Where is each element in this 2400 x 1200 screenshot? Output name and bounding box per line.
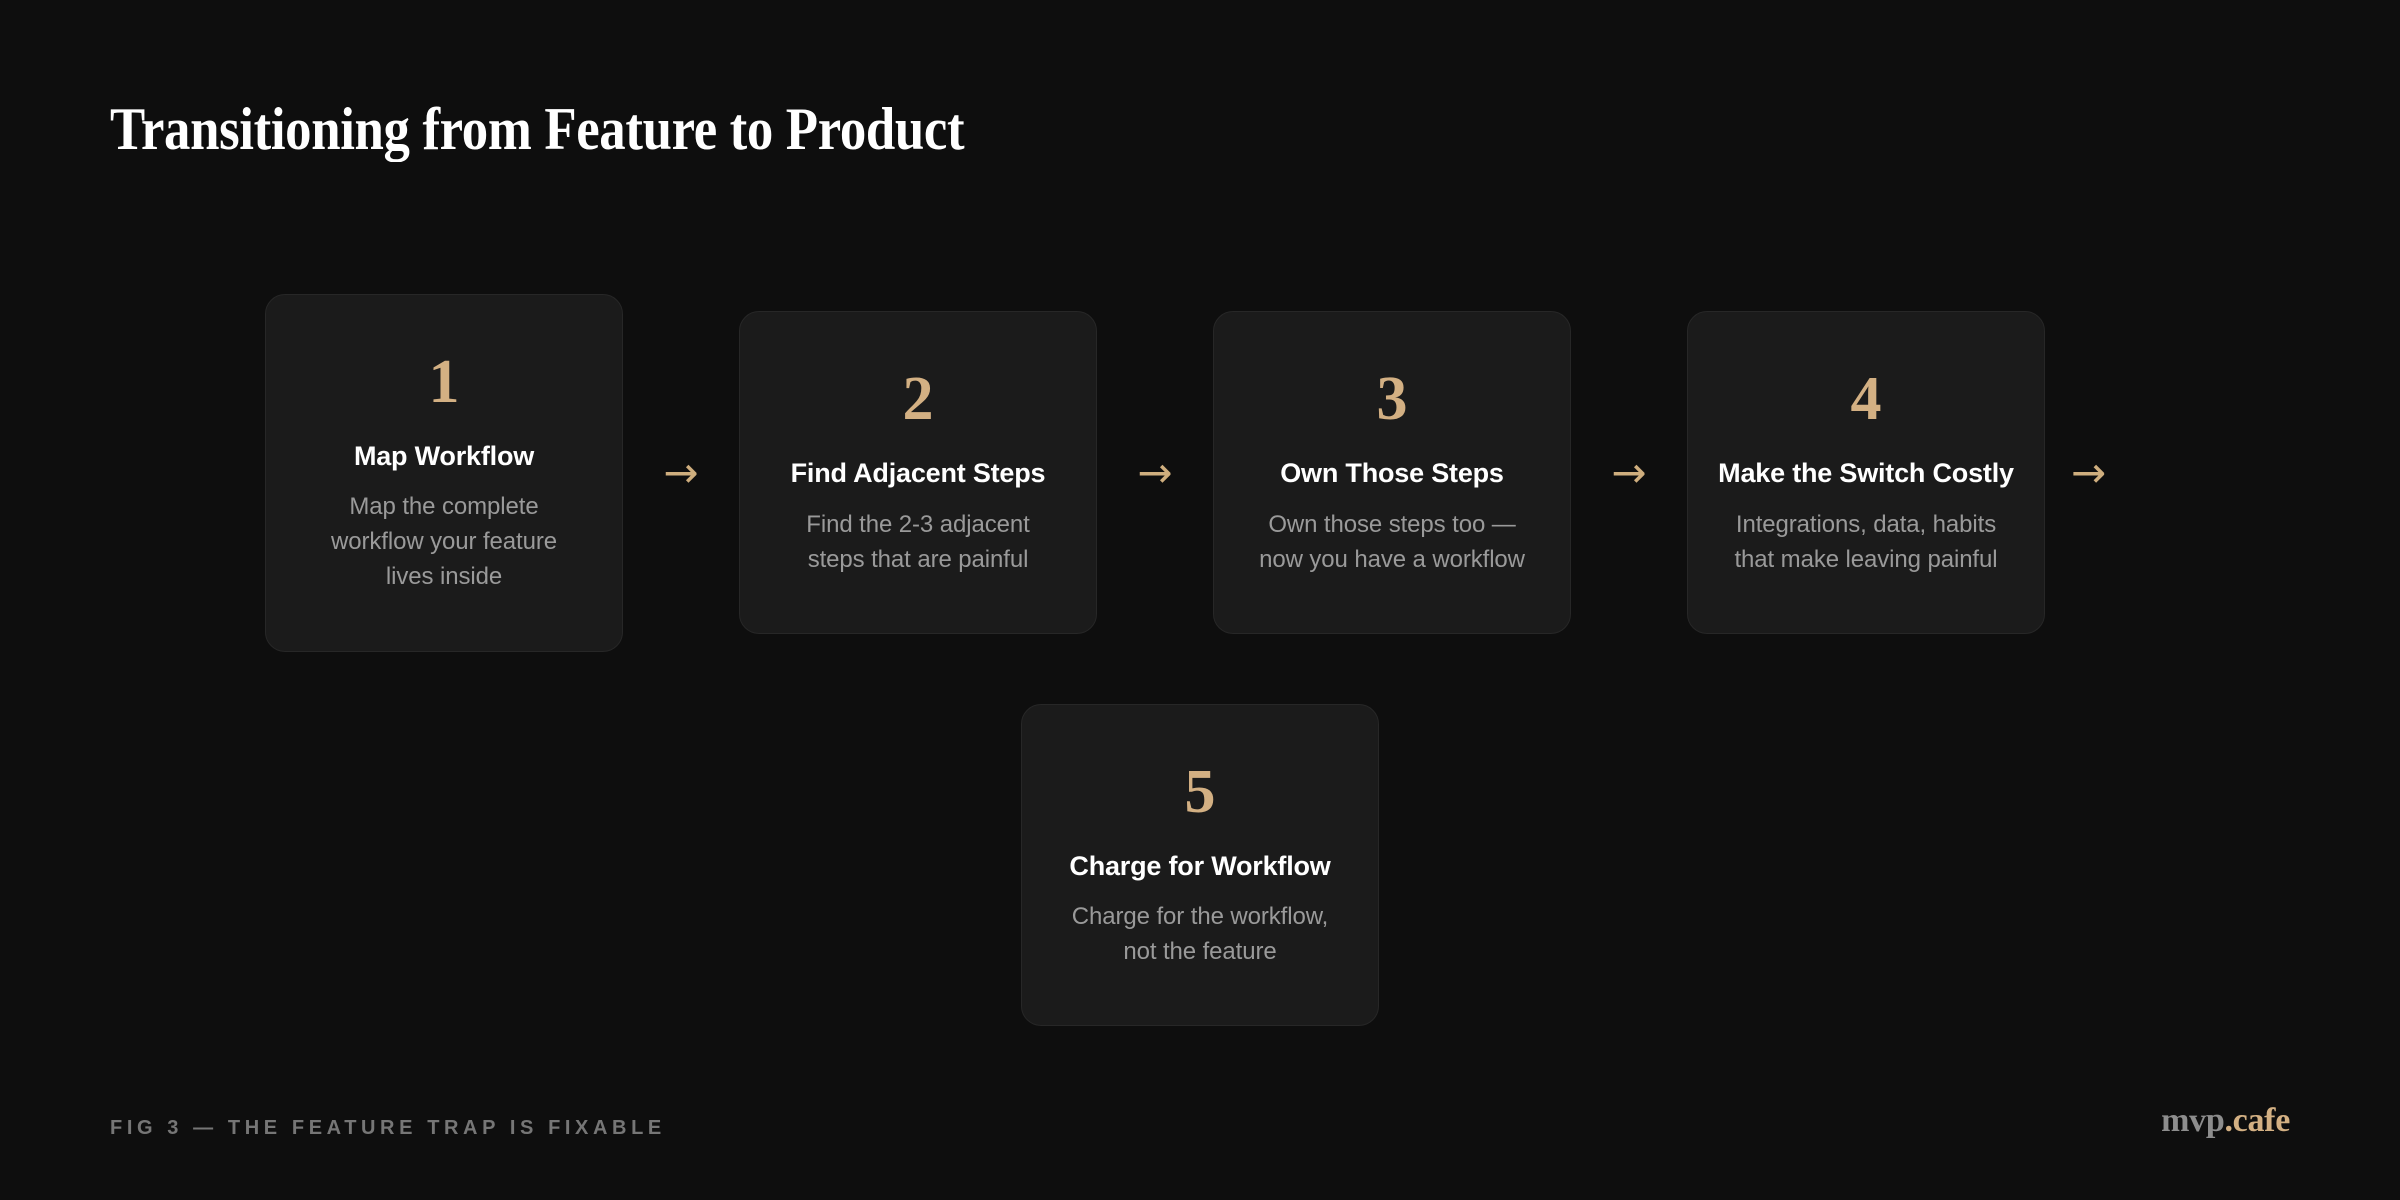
step-title: Charge for Workflow — [1069, 849, 1330, 884]
step-number: 3 — [1377, 368, 1408, 430]
step-title: Find Adjacent Steps — [791, 456, 1046, 491]
arrow-right-icon: → — [1097, 452, 1213, 494]
workflow-diagram: 1 Map Workflow Map the complete workflow… — [110, 250, 2290, 1070]
brand-tld: .cafe — [2224, 1102, 2290, 1139]
slide-root: Transitioning from Feature to Product 1 … — [0, 0, 2400, 1200]
arrow-right-icon: → — [623, 452, 739, 494]
brand-logo: mvp.cafe — [2161, 1102, 2290, 1140]
step-description: Find the 2-3 adjacent steps that are pai… — [783, 507, 1053, 577]
figure-caption: FIG 3 — THE FEATURE TRAP IS FIXABLE — [110, 1117, 666, 1140]
workflow-step-card-2[interactable]: 2 Find Adjacent Steps Find the 2-3 adjac… — [739, 311, 1097, 634]
step-title: Map Workflow — [354, 439, 534, 474]
arrow-right-icon: → — [2045, 452, 2135, 494]
workflow-row-secondary: 5 Charge for Workflow Charge for the wor… — [110, 704, 2290, 1027]
workflow-step-card-4[interactable]: 4 Make the Switch Costly Integrations, d… — [1687, 311, 2045, 634]
step-number: 2 — [903, 368, 934, 430]
workflow-row-primary: 1 Map Workflow Map the complete workflow… — [110, 294, 2290, 652]
workflow-step-card-5[interactable]: 5 Charge for Workflow Charge for the wor… — [1021, 704, 1379, 1027]
step-description: Own those steps too — now you have a wor… — [1257, 507, 1527, 577]
arrow-right-icon: → — [1571, 452, 1687, 494]
step-description: Map the complete workflow your feature l… — [309, 489, 579, 594]
step-title: Make the Switch Costly — [1718, 456, 2014, 491]
step-description: Integrations, data, habits that make lea… — [1731, 507, 2001, 577]
step-number: 5 — [1185, 761, 1216, 823]
step-description: Charge for the workflow, not the feature — [1065, 899, 1335, 969]
step-number: 4 — [1851, 368, 1882, 430]
workflow-step-card-3[interactable]: 3 Own Those Steps Own those steps too — … — [1213, 311, 1571, 634]
step-number: 1 — [429, 351, 460, 413]
footer: FIG 3 — THE FEATURE TRAP IS FIXABLE mvp.… — [110, 1102, 2290, 1140]
step-title: Own Those Steps — [1280, 456, 1504, 491]
workflow-step-card-1[interactable]: 1 Map Workflow Map the complete workflow… — [265, 294, 623, 652]
page-title: Transitioning from Feature to Product — [110, 96, 964, 163]
brand-name: mvp — [2161, 1102, 2224, 1139]
